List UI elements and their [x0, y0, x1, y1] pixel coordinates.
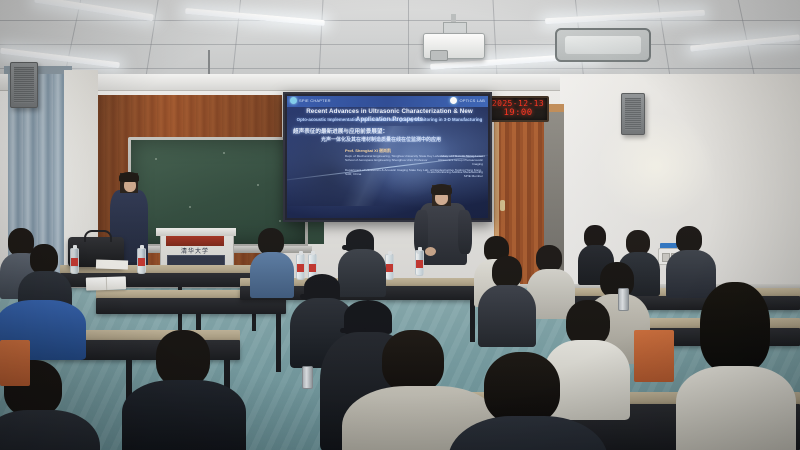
wall-speaker-left — [10, 62, 38, 108]
audience-head — [258, 228, 284, 255]
presenter-hand — [425, 247, 436, 256]
ceiling-light — [185, 8, 325, 26]
presentation-slide: SPIE CHAPTER OPTICS LAB Recent Advances … — [287, 96, 488, 218]
slide-chinese-line-2: 光声一体化及其在增材制造质量在线在位监测中的应用 — [321, 136, 441, 143]
podium-red-band — [166, 236, 224, 246]
podium-top — [156, 228, 236, 236]
logo-mark-icon — [450, 97, 457, 104]
podium-university-name: 清华大学 — [166, 246, 224, 255]
audience-head — [676, 226, 702, 253]
steel-thermos — [618, 288, 629, 311]
ceiling-projector — [423, 33, 485, 59]
led-clock: 2025-12-13 19:00 — [487, 96, 549, 122]
water-bottle — [137, 248, 146, 274]
projector-lens — [430, 50, 448, 61]
wall-light-glow — [596, 112, 716, 222]
presenter-right-arm — [458, 210, 472, 254]
ceiling-air-vent — [555, 28, 651, 62]
audience-cap — [346, 229, 374, 251]
audience-cap — [344, 300, 392, 334]
audience-head — [156, 330, 210, 386]
audience-head — [536, 245, 562, 272]
slide-logo-left-text: SPIE CHAPTER — [299, 98, 331, 103]
chair[interactable] — [634, 330, 674, 382]
projection-screen: SPIE CHAPTER OPTICS LAB Recent Advances … — [283, 92, 492, 222]
steel-thermos — [302, 366, 313, 389]
audience-head — [484, 352, 560, 424]
door-handle[interactable] — [500, 200, 505, 211]
desk-leg — [276, 314, 281, 372]
audience-body — [250, 252, 294, 298]
slide-subtitle: Opto-acoustic Implementation and In-line… — [293, 117, 486, 123]
water-bottle — [415, 250, 424, 276]
water-bottle — [70, 248, 79, 274]
clock-time: 19:00 — [489, 108, 547, 118]
paper-sheet — [96, 259, 128, 269]
slide-affiliation-3: Advanced Manufacturing Laser Ultrasonics… — [427, 154, 483, 166]
audience-head — [700, 282, 770, 372]
presenter-hair — [431, 184, 452, 195]
ceiling-light — [34, 0, 154, 21]
slide-logo-right-text: OPTICS LAB — [459, 98, 485, 103]
host-hair — [119, 172, 139, 182]
bag-handle — [84, 230, 112, 242]
audience-head — [382, 330, 444, 392]
chair[interactable] — [0, 340, 30, 386]
audience-body — [676, 366, 796, 450]
ceiling-light — [545, 10, 705, 24]
slide-affiliation-4: In-situ Monitoring Additive Manufacturin… — [427, 170, 483, 178]
slide-logo-left: SPIE CHAPTER — [290, 97, 331, 104]
slide-chinese-line-1: 超声表征的最新进展与应用前景展望： — [293, 127, 388, 135]
water-bottle — [296, 254, 305, 280]
audience-body — [338, 249, 386, 297]
audience-body — [122, 380, 246, 450]
lecture-hall-photo: 2025-12-13 19:00 SPIE CHAPTER O — [0, 0, 800, 450]
audience-body — [478, 285, 536, 347]
audience-cap — [304, 274, 340, 300]
clock-date: 2025-12-13 — [489, 99, 547, 108]
audience-head — [30, 244, 58, 274]
water-bottle — [385, 254, 394, 280]
slide-logo-right: OPTICS LAB — [450, 97, 485, 104]
audience-body — [666, 250, 716, 298]
audience-head — [492, 256, 522, 288]
open-notebook — [86, 276, 126, 290]
logo-mark-icon — [290, 97, 297, 104]
desk-body — [96, 298, 286, 314]
wall-speaker-right — [621, 93, 645, 135]
